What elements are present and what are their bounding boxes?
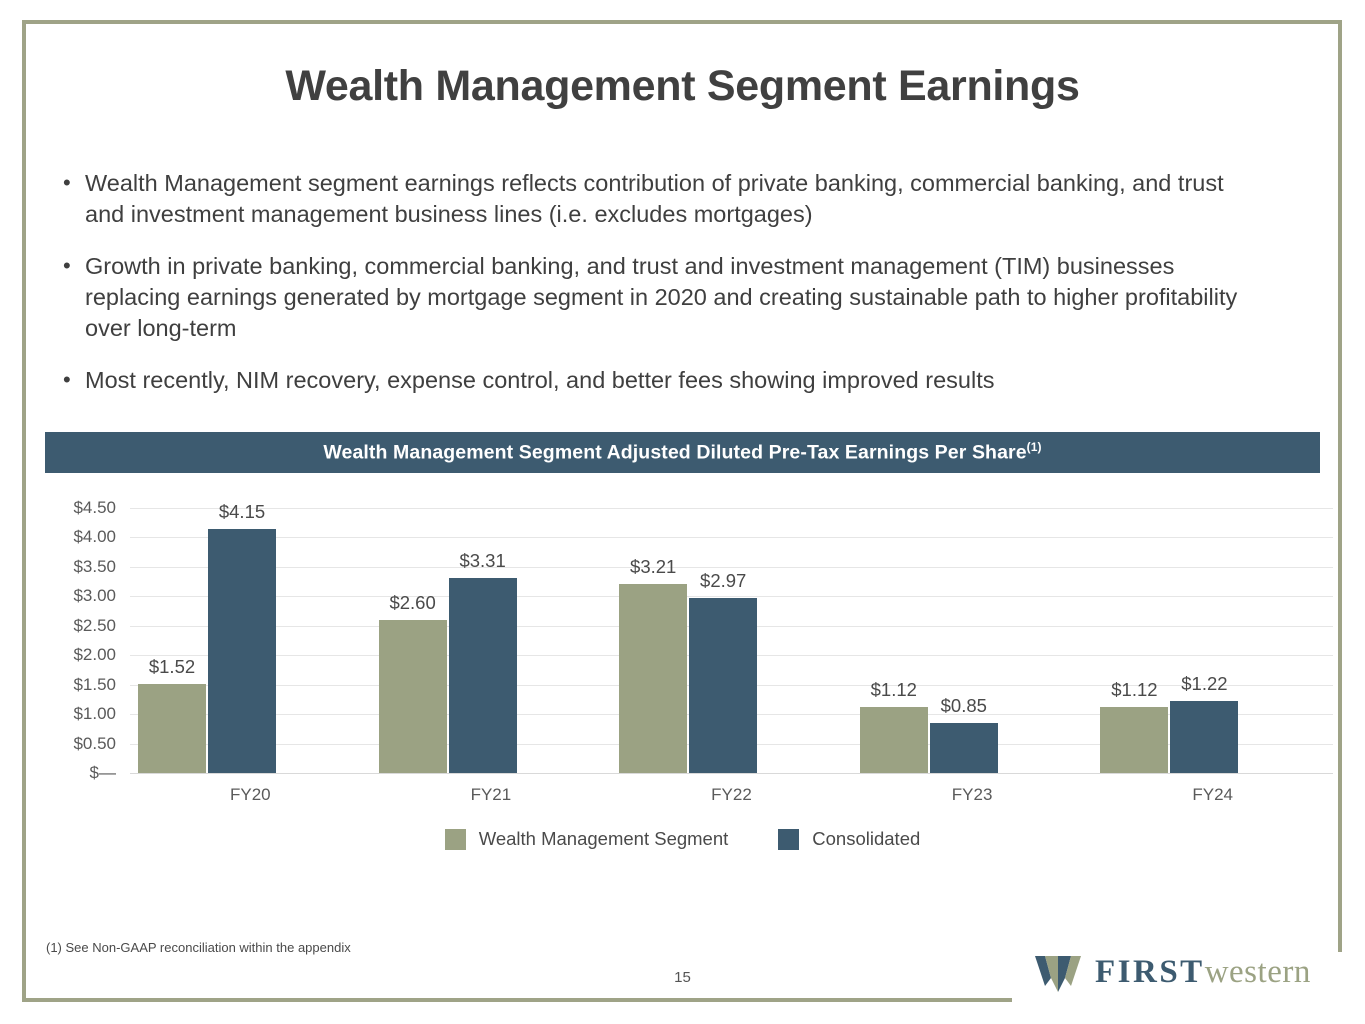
legend-label: Wealth Management Segment xyxy=(479,828,729,850)
legend-item[interactable]: Consolidated xyxy=(778,828,920,850)
bar-fy24-consolidated[interactable]: $1.22 xyxy=(1170,701,1238,773)
chart-legend: Wealth Management SegmentConsolidated xyxy=(45,828,1320,850)
legend-swatch-icon xyxy=(445,829,466,850)
x-axis-category-label: FY22 xyxy=(611,785,852,805)
frame-border-top xyxy=(22,20,1342,24)
gridline xyxy=(130,773,1333,774)
x-axis-category-label: FY24 xyxy=(1092,785,1333,805)
brand-logo: FIRSTwestern xyxy=(1035,952,1311,992)
bar-fy20-segment[interactable]: $1.52 xyxy=(138,684,206,774)
bar-value-label: $1.12 xyxy=(1111,679,1157,701)
bar-value-label: $1.22 xyxy=(1181,673,1227,695)
chart-title-label: Wealth Management Segment Adjusted Dilut… xyxy=(323,442,1026,464)
bar-value-label: $2.97 xyxy=(700,570,746,592)
bar-fy22-consolidated[interactable]: $2.97 xyxy=(689,598,757,773)
bar-value-label: $2.60 xyxy=(389,592,435,614)
legend-item[interactable]: Wealth Management Segment xyxy=(445,828,729,850)
bar-value-label: $0.85 xyxy=(941,695,987,717)
slide: Wealth Management Segment Earnings Wealt… xyxy=(0,0,1365,1024)
logo-wordmark: FIRSTwestern xyxy=(1095,954,1311,991)
bar-fy21-consolidated[interactable]: $3.31 xyxy=(449,578,517,773)
bar-value-label: $1.12 xyxy=(871,679,917,701)
frame-border-bottom xyxy=(22,998,1012,1002)
footnote-marker: (1) xyxy=(1027,440,1042,454)
y-axis-tick-label: $2.00 xyxy=(73,645,116,665)
x-axis-category-label: FY20 xyxy=(130,785,371,805)
x-axis-category-label: FY21 xyxy=(371,785,612,805)
y-axis-tick-label: $3.00 xyxy=(73,586,116,606)
chart-plot-area: $4.50$4.00$3.50$3.00$2.50$2.00$1.50$1.00… xyxy=(130,508,1333,773)
list-item: Wealth Management segment earnings refle… xyxy=(55,168,1255,230)
y-axis-tick-label: $— xyxy=(90,763,116,783)
frame-border-left xyxy=(22,20,26,1002)
bar-group-fy22: $3.21$2.97FY22 xyxy=(611,508,852,773)
bar-value-label: $3.21 xyxy=(630,556,676,578)
y-axis-tick-label: $2.50 xyxy=(73,616,116,636)
legend-label: Consolidated xyxy=(812,828,920,850)
bar-fy21-segment[interactable]: $2.60 xyxy=(379,620,447,773)
chart-title-banner: Wealth Management Segment Adjusted Dilut… xyxy=(45,432,1320,473)
bar-group-fy24: $1.12$1.22FY24 xyxy=(1092,508,1333,773)
y-axis-tick-label: $4.00 xyxy=(73,527,116,547)
bar-fy22-segment[interactable]: $3.21 xyxy=(619,584,687,773)
y-axis-tick-label: $1.00 xyxy=(73,704,116,724)
logo-first-text: FIRST xyxy=(1095,954,1205,990)
logo-western-text: western xyxy=(1205,954,1311,990)
bar-group-fy20: $1.52$4.15FY20 xyxy=(130,508,371,773)
bar-chart: $4.50$4.00$3.50$3.00$2.50$2.00$1.50$1.00… xyxy=(45,480,1320,880)
bar-value-label: $1.52 xyxy=(149,656,195,678)
w-chevron-icon xyxy=(1035,952,1081,992)
y-axis-tick-label: $0.50 xyxy=(73,734,116,754)
bar-fy20-consolidated[interactable]: $4.15 xyxy=(208,529,276,773)
footnote: (1) See Non-GAAP reconciliation within t… xyxy=(46,940,351,955)
bar-fy24-segment[interactable]: $1.12 xyxy=(1100,707,1168,773)
y-axis-tick-label: $3.50 xyxy=(73,557,116,577)
x-axis-category-label: FY23 xyxy=(852,785,1093,805)
list-item: Growth in private banking, commercial ba… xyxy=(55,251,1255,344)
y-axis-tick-label: $1.50 xyxy=(73,675,116,695)
bar-value-label: $3.31 xyxy=(459,550,505,572)
chart-title-text: Wealth Management Segment Adjusted Dilut… xyxy=(323,440,1041,465)
frame-border-right xyxy=(1338,20,1342,952)
list-item: Most recently, NIM recovery, expense con… xyxy=(55,365,1255,396)
legend-swatch-icon xyxy=(778,829,799,850)
page-title: Wealth Management Segment Earnings xyxy=(0,62,1365,111)
bar-value-label: $4.15 xyxy=(219,501,265,523)
bullet-list: Wealth Management segment earnings refle… xyxy=(55,168,1255,417)
bar-group-fy21: $2.60$3.31FY21 xyxy=(371,508,612,773)
bar-fy23-consolidated[interactable]: $0.85 xyxy=(930,723,998,773)
y-axis-tick-label: $4.50 xyxy=(73,498,116,518)
bar-group-fy23: $1.12$0.85FY23 xyxy=(852,508,1093,773)
bar-fy23-segment[interactable]: $1.12 xyxy=(860,707,928,773)
